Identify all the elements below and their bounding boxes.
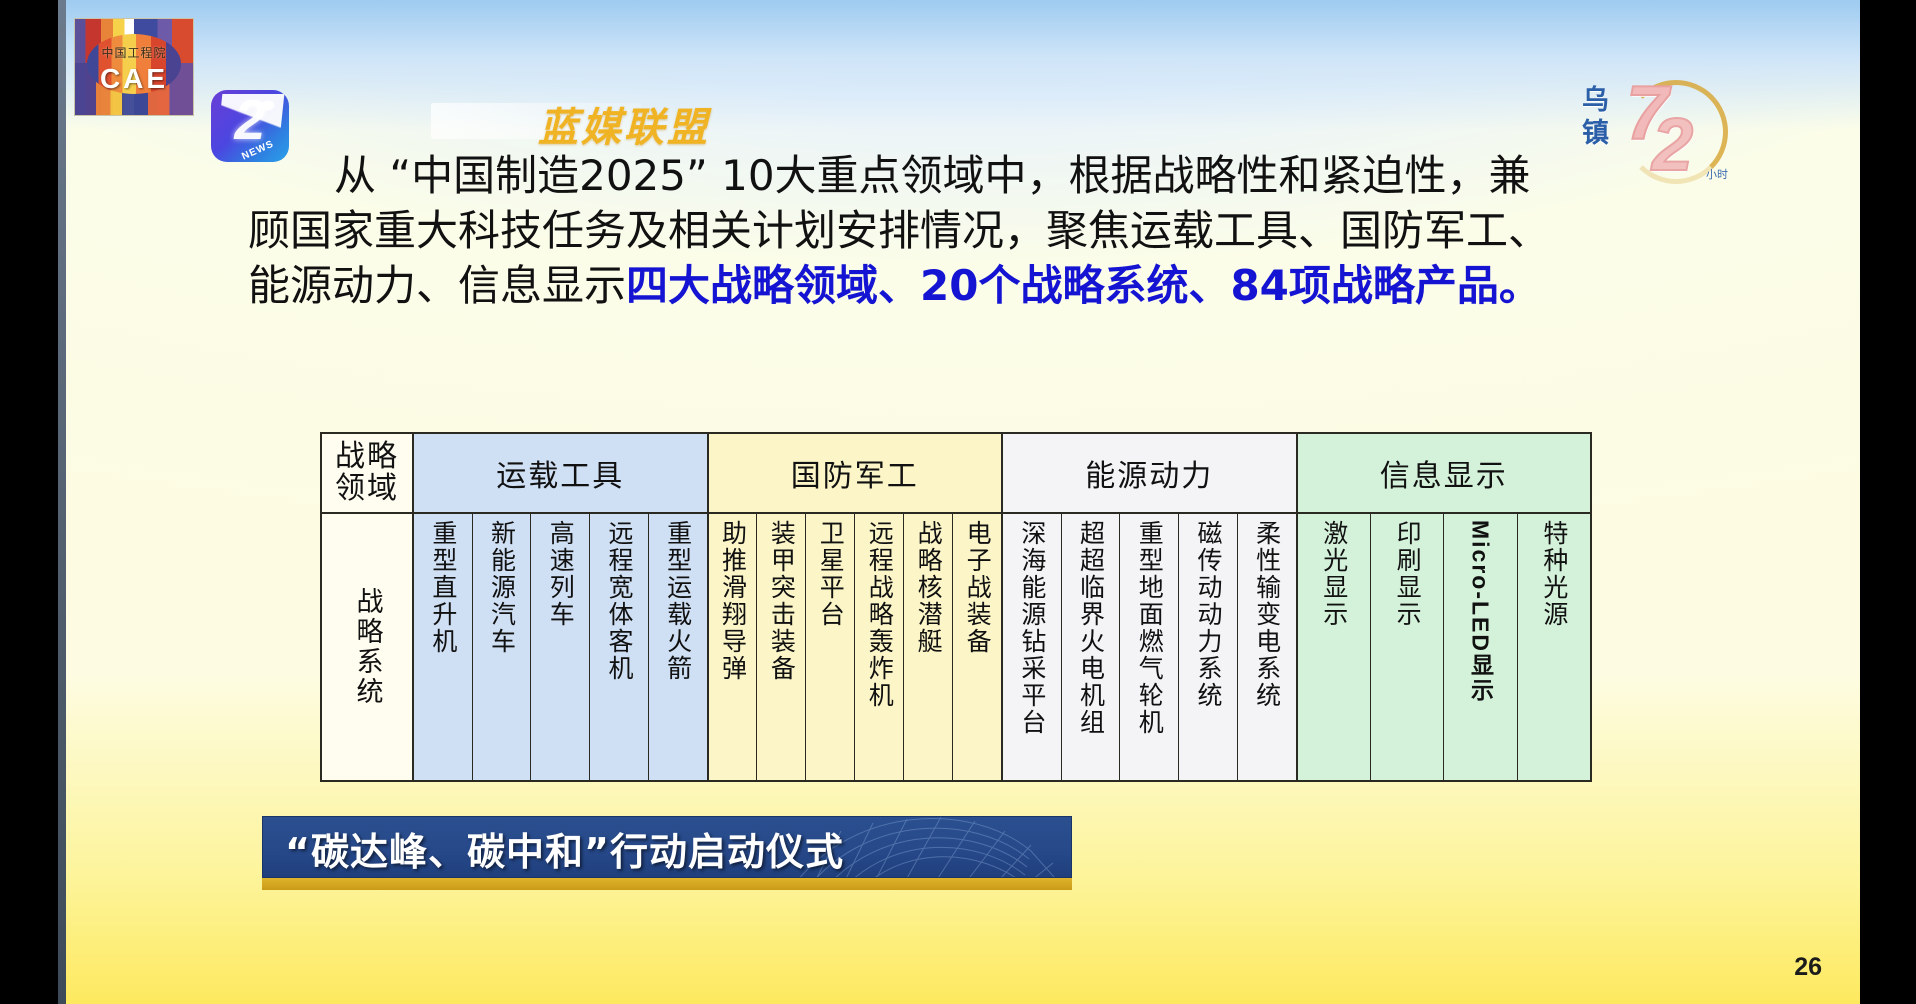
slide-paragraph: 从 “中国制造2025” 10大重点领域中，根据战略性和紧迫性，兼 顾国家重大科… [248,148,1668,313]
wuzhen-title: 乌镇 [1582,84,1634,150]
paragraph-line-3-highlight: 四大战略领域、20个战略系统、84项战略产品。 [626,261,1541,310]
cell-text: 助推滑翔导弹 [717,520,747,682]
table-row-label-text: 战略系统 [348,587,387,707]
table-cell: 重型地面燃气轮机 [1120,514,1179,780]
table-cell: 电子战装备 [953,514,1001,780]
table-cell: 高速列车 [531,514,590,780]
table-cell: 印刷显示 [1371,514,1444,780]
wuzhen-two-digit: 2 [1652,108,1693,182]
table-cell: 新能源汽车 [473,514,532,780]
group-cells-energy: 深海能源钻采平台 超超临界火电机组 重型地面燃气轮机 磁传动动力系统 柔性输变电… [1003,514,1298,780]
table-cell: 远程战略轰炸机 [855,514,904,780]
screenshot-stage: 中国工程院 CAE 2 NEWS 7 2 乌镇 小时 蓝媒联盟 从 “中国制造2… [0,0,1916,1004]
paragraph-line-3: 能源动力、信息显示四大战略领域、20个战略系统、84项战略产品。 [248,258,1668,313]
strategy-table: 战略 领域 运载工具 国防军工 能源动力 信息显示 战略系统 重型直升机 新能源… [320,432,1592,782]
cell-text: 电子战装备 [962,520,992,655]
cae-logo-chinese-name: 中国工程院 [75,44,193,61]
cell-text: 柔性输变电系统 [1252,520,1282,709]
table-corner-header-line2: 领域 [335,473,399,505]
letterbox-left [0,0,58,1004]
group-cells-display: 激光显示 印刷显示 Micro-LED显示 特种光源 [1298,514,1591,780]
cell-text: 印刷显示 [1392,520,1422,628]
table-cell: 深海能源钻采平台 [1003,514,1062,780]
table-cell: 重型运载火箭 [649,514,707,780]
cell-text: 超超临界火电机组 [1076,520,1106,736]
cell-text: 新能源汽车 [487,520,517,655]
group-header-defense: 国防军工 [709,434,1004,512]
cell-text: 激光显示 [1319,520,1349,628]
group-header-energy: 能源动力 [1003,434,1298,512]
cell-text: 远程战略轰炸机 [864,520,894,709]
table-cell: 装甲突击装备 [757,514,806,780]
group-header-transport: 运载工具 [414,434,709,512]
broadcast-banner-underline [262,878,1072,890]
table-row-label: 战略系统 [322,514,414,780]
alliance-title: 蓝媒联盟 [538,95,710,153]
cell-text: 深海能源钻采平台 [1017,520,1047,736]
paragraph-line-3-plain: 能源动力、信息显示 [248,261,626,310]
cell-text: 高速列车 [545,520,575,628]
table-cell: 磁传动动力系统 [1179,514,1238,780]
table-cell: 助推滑翔导弹 [709,514,758,780]
broadcast-banner: “碳达峰、碳中和”行动启动仪式 [262,816,1072,878]
cell-text: 卫星平台 [815,520,845,628]
table-corner-header-line1: 战略 [335,441,399,473]
cell-text: 重型运载火箭 [663,520,693,682]
group-cells-defense: 助推滑翔导弹 装甲突击装备 卫星平台 远程战略轰炸机 战略核潜艇 电子战装备 [709,514,1004,780]
page-number: 26 [1794,953,1822,982]
presentation-slide: 中国工程院 CAE 2 NEWS 7 2 乌镇 小时 蓝媒联盟 从 “中国制造2… [66,0,1860,1004]
paragraph-line-2: 顾国家重大科技任务及相关计划安排情况，聚焦运载工具、国防军工、 [248,203,1668,258]
group-header-display: 信息显示 [1298,434,1591,512]
cell-text: 特种光源 [1539,520,1569,628]
cell-text: 战略核潜艇 [913,520,943,655]
table-cell: 特种光源 [1518,514,1590,780]
table-corner-header: 战略 领域 [322,434,414,512]
cell-text: 远程宽体客机 [604,520,634,682]
table-cell: Micro-LED显示 [1444,514,1517,780]
broadcast-banner-title: “碳达峰、碳中和”行动启动仪式 [285,821,844,876]
strategy-table-header-row: 战略 领域 运载工具 国防军工 能源动力 信息显示 [322,434,1590,512]
cell-text: 装甲突击装备 [766,520,796,682]
table-cell: 卫星平台 [806,514,855,780]
table-cell: 柔性输变电系统 [1238,514,1296,780]
table-cell: 激光显示 [1298,514,1371,780]
table-cell: 超超临界火电机组 [1062,514,1121,780]
paragraph-line-1: 从 “中国制造2025” 10大重点领域中，根据战略性和紧迫性，兼 [248,148,1668,203]
zjnews-logo: 2 NEWS [211,90,289,162]
wuzhen72-logo: 7 2 乌镇 小时 [1582,78,1732,186]
cell-text: Micro-LED显示 [1465,520,1495,703]
table-cell: 重型直升机 [414,514,473,780]
wuzhen-hours-label: 小时 [1706,166,1728,182]
cell-text: 重型直升机 [428,520,458,655]
group-cells-transport: 重型直升机 新能源汽车 高速列车 远程宽体客机 重型运载火箭 [414,514,709,780]
slide-edge-strip [58,0,66,1004]
cell-text: 磁传动动力系统 [1193,520,1223,709]
cae-logo: 中国工程院 CAE [74,18,194,116]
cell-text: 重型地面燃气轮机 [1134,520,1164,736]
strategy-table-body-row: 战略系统 重型直升机 新能源汽车 高速列车 远程宽体客机 重型运载火箭 助推滑翔… [322,512,1590,780]
alliance-banner: 蓝媒联盟 [431,95,831,149]
table-cell: 远程宽体客机 [590,514,649,780]
cae-logo-abbr: CAE [75,63,193,95]
table-cell: 战略核潜艇 [904,514,953,780]
letterbox-right [1860,0,1916,1004]
